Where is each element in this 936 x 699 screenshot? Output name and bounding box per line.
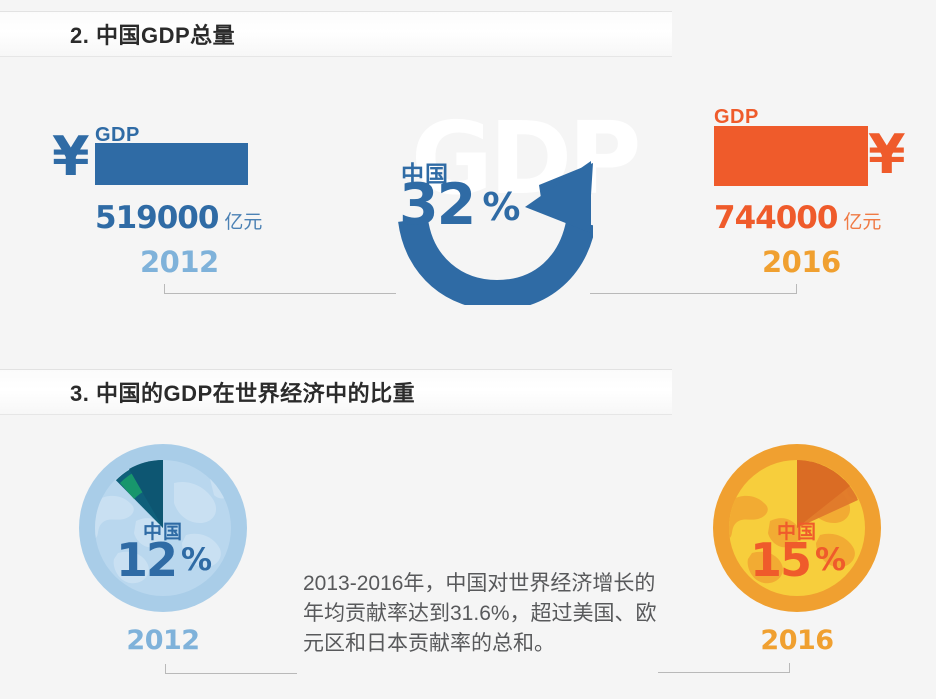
- gdp-year-2016: 2016: [762, 245, 841, 279]
- connector-rule-right-top: [590, 293, 797, 294]
- globe-year-2016: 2016: [712, 625, 882, 656]
- connector-tick-right-bottom: [789, 663, 790, 673]
- globe-share-value-2012: 12%: [78, 537, 248, 583]
- growth-arrow-group: GDP 中国 32%: [393, 115, 593, 305]
- connector-tick-right-top: [796, 284, 797, 294]
- gdp-value-2012: 519000亿元: [95, 200, 262, 236]
- gdp-bar-2012: [95, 143, 248, 185]
- growth-number: 32: [399, 172, 474, 238]
- section-heading-gdp-total: 2. 中国GDP总量: [0, 11, 672, 57]
- globe-share-number-2016: 15: [750, 533, 810, 587]
- globe-percent-sign-2012: %: [181, 542, 210, 578]
- yen-symbol-icon-right: ¥: [868, 128, 906, 182]
- page-title: 2. 中国GDP总量: [70, 18, 235, 50]
- infographic-page: 2. 中国GDP总量 ¥ GDP 519000亿元 2012 GDP 中国 32…: [0, 0, 936, 699]
- gdp-unit-2012: 亿元: [224, 211, 262, 233]
- center-growth-value: 32%: [399, 177, 518, 234]
- globe-year-2012: 2012: [78, 625, 248, 656]
- gdp-value-2016: 744000亿元: [714, 200, 881, 236]
- gdp-amount-2016: 744000: [714, 200, 837, 236]
- globe-percent-sign-2016: %: [815, 542, 844, 578]
- connector-rule-left-bottom: [165, 673, 297, 674]
- gdp-amount-2012: 519000: [95, 200, 218, 236]
- gdp-year-2012: 2012: [140, 245, 219, 279]
- growth-percent-sign: %: [482, 185, 518, 229]
- globe-chart-2016: 中国 15% 2016: [712, 443, 882, 613]
- connector-rule-right-bottom: [658, 672, 790, 673]
- globe-share-number-2012: 12: [116, 533, 176, 587]
- connector-tick-left-bottom: [165, 664, 166, 674]
- connector-tick-left-top: [164, 284, 165, 294]
- section-heading-world-share: 3. 中国的GDP在世界经济中的比重: [0, 369, 672, 415]
- page-title-section3: 3. 中国的GDP在世界经济中的比重: [70, 376, 415, 408]
- gdp-bar-2016: [714, 126, 868, 186]
- world-share-description: 2013-2016年，中国对世界经济增长的年均贡献率达到31.6%，超过美国、欧…: [303, 569, 663, 658]
- globe-chart-2012: 中国 12% 2012: [78, 443, 248, 613]
- connector-rule-left-top: [164, 293, 396, 294]
- gdp-unit-2016: 亿元: [843, 211, 881, 233]
- globe-share-value-2016: 15%: [712, 537, 882, 583]
- yen-symbol-icon: ¥: [52, 130, 90, 184]
